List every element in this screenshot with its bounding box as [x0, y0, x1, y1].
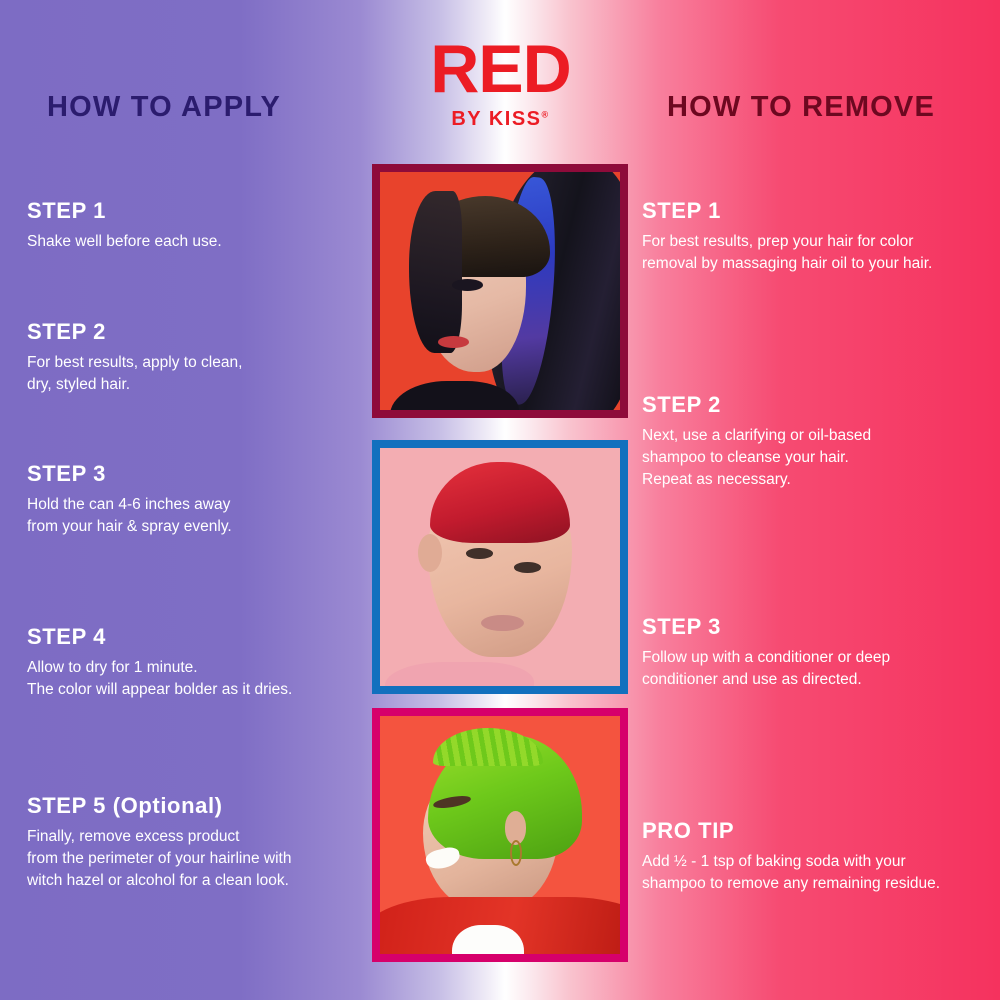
photo-model-blue-streaked-dark-hair: [372, 164, 628, 418]
brand-logo-subtitle-text: BY KISS: [451, 108, 541, 130]
photo-3-image: [380, 716, 620, 954]
remove-step-1-body: For best results, prep your hair for col…: [642, 231, 992, 275]
apply-step-4-title: STEP 4: [27, 624, 362, 650]
apply-step-4-body: Allow to dry for 1 minute. The color wil…: [27, 657, 362, 701]
apply-step-3: STEP 3 Hold the can 4-6 inches away from…: [27, 461, 362, 538]
poster-canvas: RED BY KISS® HOW TO APPLY HOW TO REMOVE …: [0, 0, 1000, 1000]
apply-step-2-title: STEP 2: [27, 319, 362, 345]
remove-step-3-title: STEP 3: [642, 614, 992, 640]
apply-step-1: STEP 1 Shake well before each use.: [27, 198, 362, 253]
photo-model-green-hair-red-jacket: [372, 708, 628, 962]
brand-logo-subtitle: BY KISS®: [383, 109, 618, 129]
remove-pro-tip-title: PRO TIP: [642, 818, 992, 844]
remove-pro-tip: PRO TIP Add ½ - 1 tsp of baking soda wit…: [642, 818, 992, 895]
apply-step-1-title: STEP 1: [27, 198, 362, 224]
hair-spikes-icon: [433, 728, 543, 766]
eye-icon: [466, 548, 492, 559]
heading-how-to-apply: HOW TO APPLY: [47, 91, 281, 124]
apply-step-2-body: For best results, apply to clean, dry, s…: [27, 352, 362, 396]
registered-trademark-icon: ®: [542, 109, 550, 119]
lips-icon: [481, 615, 524, 632]
apply-step-5-title: STEP 5 (Optional): [27, 793, 362, 819]
shirt-shape-icon: [385, 662, 534, 686]
apply-step-2: STEP 2 For best results, apply to clean,…: [27, 319, 362, 396]
apply-step-3-body: Hold the can 4-6 inches away from your h…: [27, 494, 362, 538]
photo-1-image: [380, 172, 620, 410]
photo-2-image: [380, 448, 620, 686]
remove-step-2-body: Next, use a clarifying or oil-based sham…: [642, 425, 992, 491]
apply-step-1-body: Shake well before each use.: [27, 231, 362, 253]
apply-step-3-title: STEP 3: [27, 461, 362, 487]
eye-icon: [452, 279, 483, 291]
remove-step-1-title: STEP 1: [642, 198, 992, 224]
front-hair-icon: [409, 191, 462, 353]
remove-step-3: STEP 3 Follow up with a conditioner or d…: [642, 614, 992, 691]
earring-icon: [510, 840, 522, 866]
apply-step-5: STEP 5 (Optional) Finally, remove excess…: [27, 793, 362, 892]
white-tshirt-icon: [452, 925, 524, 954]
remove-step-3-body: Follow up with a conditioner or deep con…: [642, 647, 992, 691]
heading-how-to-remove: HOW TO REMOVE: [667, 91, 935, 124]
photo-model-red-buzzcut: [372, 440, 628, 694]
remove-step-2-title: STEP 2: [642, 392, 992, 418]
buzzcut-hair-icon: [430, 462, 569, 543]
brand-logo: RED BY KISS®: [383, 35, 618, 129]
apply-step-5-body: Finally, remove excess product from the …: [27, 826, 362, 892]
remove-step-2: STEP 2 Next, use a clarifying or oil-bas…: [642, 392, 992, 491]
remove-pro-tip-body: Add ½ - 1 tsp of baking soda with your s…: [642, 851, 992, 895]
lips-icon: [438, 336, 469, 348]
remove-step-1: STEP 1 For best results, prep your hair …: [642, 198, 992, 275]
apply-step-4: STEP 4 Allow to dry for 1 minute. The co…: [27, 624, 362, 701]
eye-icon: [514, 562, 540, 573]
brand-logo-word: RED: [383, 35, 618, 103]
